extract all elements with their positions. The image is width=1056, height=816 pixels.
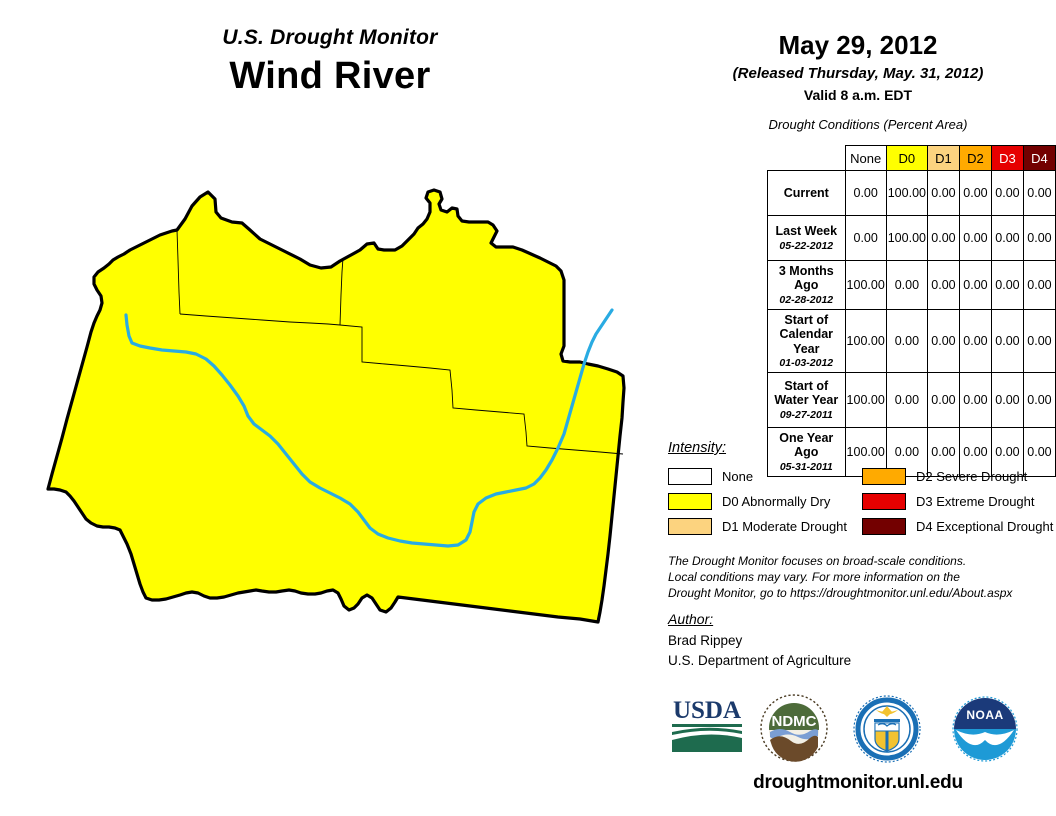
author-organization: U.S. Department of Agriculture (668, 651, 1048, 671)
cell-lastweek-d2: 0.00 (959, 216, 991, 261)
drought-conditions-table-wrap: None D0 D1 D2 D3 D4 Current 0.00 100.00 … (767, 145, 1056, 477)
row-label-start-water-year: Start of Water Year 09-27-2011 (768, 373, 846, 428)
site-url[interactable]: droughtmonitor.unl.edu (660, 772, 1056, 794)
cell-cy-none: 100.00 (845, 309, 886, 372)
cell-lastweek-d3: 0.00 (991, 216, 1023, 261)
disclaimer-line-2: Local conditions may vary. For more info… (668, 570, 1048, 586)
cell-3mo-d4: 0.00 (1023, 261, 1055, 310)
cell-wy-d0: 0.00 (886, 373, 927, 428)
cell-3mo-d1: 0.00 (927, 261, 959, 310)
col-header-d1: D1 (927, 146, 959, 171)
legend-item-d1[interactable]: D1 Moderate Drought (668, 514, 862, 539)
row-label-text: Last Week (775, 224, 837, 238)
row-label-3-months-ago: 3 Months Ago 02-28-2012 (768, 261, 846, 310)
right-info-panel: May 29, 2012 (Released Thursday, May. 31… (660, 0, 1056, 816)
legend-item-d2[interactable]: D2 Severe Drought (862, 464, 1056, 489)
cell-wy-d2: 0.00 (959, 373, 991, 428)
doc-seal-logo[interactable] (852, 694, 922, 769)
cell-lastweek-d1: 0.00 (927, 216, 959, 261)
cell-wy-d4: 0.00 (1023, 373, 1055, 428)
drought-map[interactable] (10, 140, 660, 760)
col-header-d2: D2 (959, 146, 991, 171)
col-header-d0: D0 (886, 146, 927, 171)
disclaimer-text: The Drought Monitor focuses on broad-sca… (668, 554, 1048, 601)
legend-label-none: None (722, 469, 753, 484)
usda-logo[interactable]: USDA (668, 694, 746, 761)
swatch-d4 (862, 518, 906, 535)
disclaimer-line-1: The Drought Monitor focuses on broad-sca… (668, 554, 1048, 570)
legend-item-d4[interactable]: D4 Exceptional Drought (862, 514, 1056, 539)
cell-current-d0: 100.00 (886, 171, 927, 216)
legend-item-none[interactable]: None (668, 464, 862, 489)
region-title: Wind River (0, 55, 660, 98)
row-label-text: Current (784, 186, 829, 200)
cell-wy-d3: 0.00 (991, 373, 1023, 428)
drought-conditions-table: None D0 D1 D2 D3 D4 Current 0.00 100.00 … (767, 145, 1056, 477)
row-label-date: 02-28-2012 (772, 294, 841, 306)
row-label-date: 01-03-2012 (772, 357, 841, 369)
legend-item-d0[interactable]: D0 Abnormally Dry (668, 489, 862, 514)
cell-current-d2: 0.00 (959, 171, 991, 216)
swatch-d2 (862, 468, 906, 485)
cell-lastweek-d4: 0.00 (1023, 216, 1055, 261)
cell-current-d1: 0.00 (927, 171, 959, 216)
cell-lastweek-none: 0.00 (845, 216, 886, 261)
swatch-d3 (862, 493, 906, 510)
table-caption: Drought Conditions (Percent Area) (660, 117, 1056, 132)
cell-cy-d0: 0.00 (886, 309, 927, 372)
cell-wy-d1: 0.00 (927, 373, 959, 428)
author-block: Author: Brad Rippey U.S. Department of A… (668, 611, 1048, 670)
row-label-last-week: Last Week 05-22-2012 (768, 216, 846, 261)
intensity-heading: Intensity: (668, 440, 1056, 456)
legend-column-right: D2 Severe Drought D3 Extreme Drought D4 … (862, 464, 1056, 539)
table-row: Last Week 05-22-2012 0.00 100.00 0.00 0.… (768, 216, 1056, 261)
cell-3mo-none: 100.00 (845, 261, 886, 310)
legend-label-d1: D1 Moderate Drought (722, 519, 847, 534)
row-label-date: 05-22-2012 (772, 240, 841, 252)
cell-current-none: 0.00 (845, 171, 886, 216)
ndmc-logo[interactable]: NDMC (760, 694, 828, 767)
released-date: (Released Thursday, May. 31, 2012) (660, 65, 1056, 82)
swatch-none (668, 468, 712, 485)
program-title: U.S. Drought Monitor (0, 26, 660, 50)
region-polygon (48, 190, 624, 622)
cell-cy-d2: 0.00 (959, 309, 991, 372)
cell-3mo-d3: 0.00 (991, 261, 1023, 310)
author-name: Brad Rippey (668, 631, 1048, 651)
svg-text:NDMC: NDMC (772, 713, 817, 730)
table-row: Current 0.00 100.00 0.00 0.00 0.00 0.00 (768, 171, 1056, 216)
row-label-text: 3 Months Ago (779, 264, 834, 292)
table-row: Start of Calendar Year 01-03-2012 100.00… (768, 309, 1056, 372)
logo-row: USDA NDMC (660, 694, 1056, 772)
legend-label-d4: D4 Exceptional Drought (916, 519, 1053, 534)
row-label-text: Start of Water Year (774, 379, 838, 407)
cell-cy-d3: 0.00 (991, 309, 1023, 372)
row-label-start-calendar-year: Start of Calendar Year 01-03-2012 (768, 309, 846, 372)
col-header-d3: D3 (991, 146, 1023, 171)
valid-time: Valid 8 a.m. EDT (660, 87, 1056, 103)
legend-item-d3[interactable]: D3 Extreme Drought (862, 489, 1056, 514)
intensity-legend: Intensity: None D0 Abnormally Dry D1 Mod… (668, 440, 1056, 539)
col-header-d4: D4 (1023, 146, 1055, 171)
swatch-d1 (668, 518, 712, 535)
legend-column-left: None D0 Abnormally Dry D1 Moderate Droug… (668, 464, 862, 539)
table-row: 3 Months Ago 02-28-2012 100.00 0.00 0.00… (768, 261, 1056, 310)
row-label-date: 09-27-2011 (772, 409, 841, 421)
col-header-none: None (845, 146, 886, 171)
legend-label-d3: D3 Extreme Drought (916, 494, 1035, 509)
cell-cy-d1: 0.00 (927, 309, 959, 372)
valid-date: May 29, 2012 (660, 30, 1056, 61)
disclaimer-line-3: Drought Monitor, go to https://droughtmo… (668, 586, 1048, 602)
svg-text:USDA: USDA (673, 697, 741, 724)
legend-label-d2: D2 Severe Drought (916, 469, 1027, 484)
swatch-d0 (668, 493, 712, 510)
row-label-text: Start of Calendar Year (780, 313, 834, 356)
cell-3mo-d2: 0.00 (959, 261, 991, 310)
table-header-row: None D0 D1 D2 D3 D4 (768, 146, 1056, 171)
date-block: May 29, 2012 (Released Thursday, May. 31… (660, 0, 1056, 103)
table-corner-cell (768, 146, 846, 171)
cell-lastweek-d0: 100.00 (886, 216, 927, 261)
table-row: Start of Water Year 09-27-2011 100.00 0.… (768, 373, 1056, 428)
author-heading: Author: (668, 611, 1048, 627)
cell-current-d4: 0.00 (1023, 171, 1055, 216)
noaa-logo[interactable]: NOAA (950, 694, 1020, 769)
legend-label-d0: D0 Abnormally Dry (722, 494, 830, 509)
svg-text:NOAA: NOAA (966, 708, 1003, 722)
map-title-block: U.S. Drought Monitor Wind River (0, 26, 660, 98)
cell-current-d3: 0.00 (991, 171, 1023, 216)
cell-cy-d4: 0.00 (1023, 309, 1055, 372)
cell-3mo-d0: 0.00 (886, 261, 927, 310)
cell-wy-none: 100.00 (845, 373, 886, 428)
row-label-current: Current (768, 171, 846, 216)
